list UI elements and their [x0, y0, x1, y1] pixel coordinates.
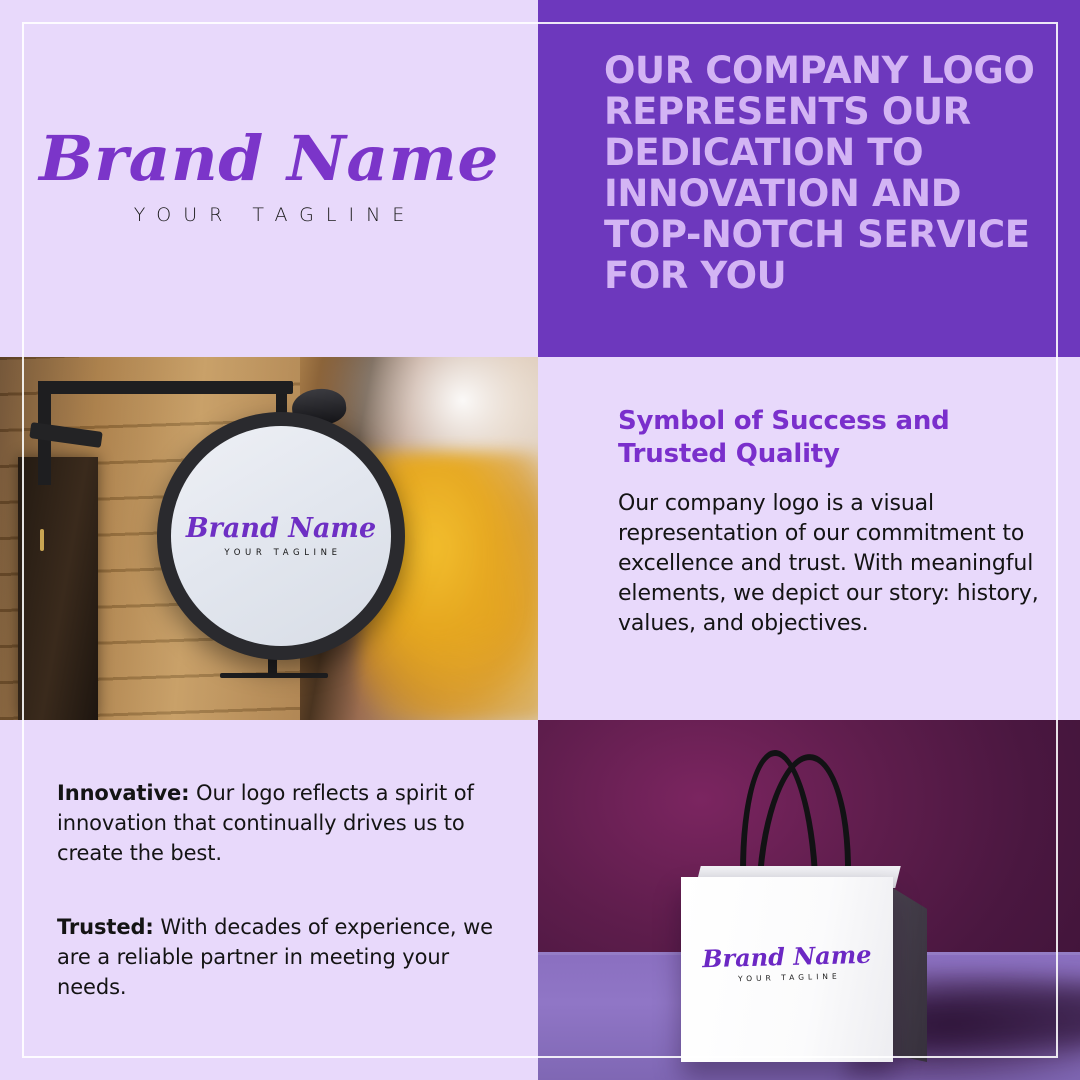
brand-tagline: YOUR TAGLINE [0, 204, 538, 226]
description-heading: Symbol of Success and Trusted Quality [618, 405, 1048, 471]
headline-panel: OUR COMPANY LOGO REPRESENTS OUR DEDICATI… [538, 0, 1080, 357]
key-point-trusted: Trusted: With decades of experience, we … [57, 912, 497, 1002]
description-block: Symbol of Success and Trusted Quality Ou… [618, 405, 1048, 639]
bag-backdrop: Brand Name YOUR TAGLINE [538, 720, 1080, 1080]
key-point-innovative: Innovative: Our logo reflects a spirit o… [57, 778, 497, 868]
sign-brand-tagline: YOUR TAGLINE [220, 548, 341, 558]
bag-logo-lockup: Brand Name YOUR TAGLINE [681, 942, 894, 985]
shop-doorway [18, 457, 98, 720]
brand-lockup-panel: Brand Name YOUR TAGLINE [0, 0, 538, 357]
storefront-sign-photo: Brand Name YOUR TAGLINE [0, 357, 538, 720]
headline-text: OUR COMPANY LOGO REPRESENTS OUR DEDICATI… [604, 50, 1044, 296]
circular-sign-face: Brand Name YOUR TAGLINE [171, 426, 391, 646]
brand-lockup: Brand Name YOUR TAGLINE [0, 128, 538, 226]
brand-identity-poster: Brand Name YOUR TAGLINE OUR COMPANY LOGO… [0, 0, 1080, 1080]
door-handle [40, 529, 44, 551]
shopping-bag-photo: Brand Name YOUR TAGLINE [538, 720, 1080, 1080]
key-points-panel: Innovative: Our logo reflects a spirit o… [0, 720, 538, 1080]
circular-sign-frame: Brand Name YOUR TAGLINE [157, 412, 405, 660]
key-point-label: Trusted: [57, 915, 154, 939]
bag-side-panel [893, 888, 927, 1062]
brand-name: Brand Name [0, 128, 538, 190]
sign-brand-name: Brand Name [186, 515, 376, 542]
street-scene-background: Brand Name YOUR TAGLINE [0, 357, 538, 720]
sign-bracket-arm [38, 381, 293, 394]
description-body: Our company logo is a visual representat… [618, 489, 1048, 639]
description-panel: Symbol of Success and Trusted Quality Ou… [538, 357, 1080, 720]
key-points-list: Innovative: Our logo reflects a spirit o… [57, 778, 497, 1002]
sign-lower-bar [220, 673, 328, 678]
bag-brand-name: Brand Name [681, 942, 894, 972]
key-point-label: Innovative: [57, 781, 189, 805]
